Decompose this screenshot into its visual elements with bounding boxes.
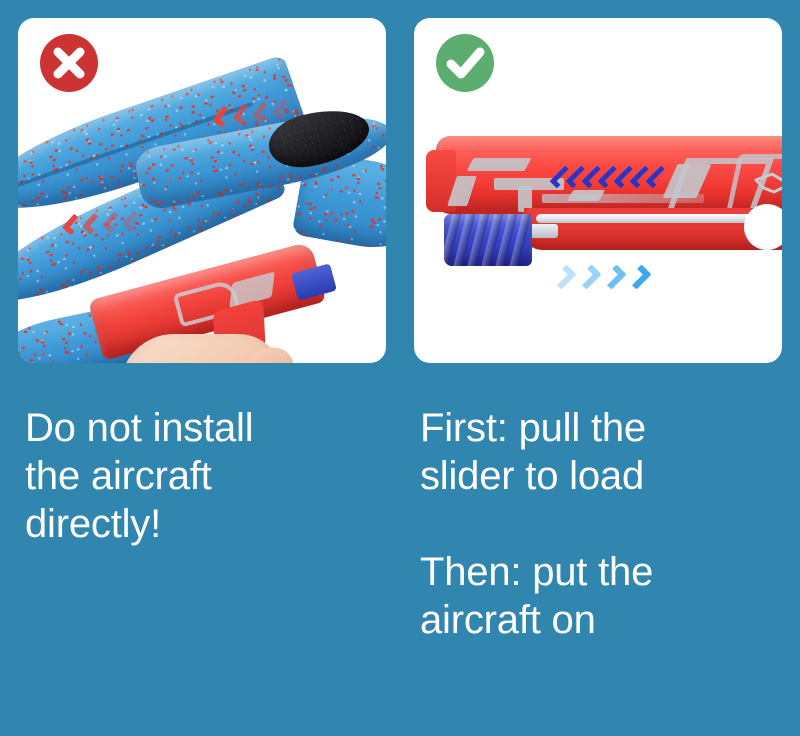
blue-motion-chevrons [554,262,649,292]
slider-grip[interactable] [444,214,532,266]
chevron-left-icon [570,162,584,192]
chevron-left-icon [272,95,292,123]
eagle-emblem-icon [752,166,782,202]
chevron-right-icon [604,262,624,292]
launcher-silver-strip [542,194,704,203]
chevron-left-icon [123,208,141,235]
caption-column-right: First: pull the slider to load Then: put… [420,382,800,644]
chevron-left-icon [252,98,272,126]
chevron-right-icon [554,262,574,292]
cross-badge [40,34,98,92]
caption-step-then: Then: put the aircraft on [420,548,800,644]
chevron-left-icon [634,162,648,192]
panel-correct [414,18,782,363]
check-icon [436,34,494,92]
chevron-left-icon [586,162,600,192]
caption-area: Do not install the aircraft directly! Fi… [0,382,800,736]
chevron-left-icon [602,162,616,192]
launcher-silver-graphic [467,158,532,171]
chevron-left-icon [83,210,101,237]
red-motion-chevrons-wing [63,208,141,238]
chevron-right-icon [579,262,599,292]
chevron-right-icon [629,262,649,292]
caption-do-not-install: Do not install the aircraft directly! [25,404,415,548]
chevron-left-icon [554,162,568,192]
chevron-left-icon [63,211,81,238]
chevron-left-icon [103,209,121,236]
check-badge [436,34,494,92]
launcher-trigger-hole [744,204,782,250]
caption-step-first: First: pull the slider to load [420,404,800,500]
chevron-left-icon [650,162,664,192]
launcher-top-rail [442,136,782,152]
chevron-left-icon [233,100,253,128]
cross-icon [40,34,98,92]
launcher-chevron-decals [554,162,664,192]
chevron-left-icon [618,162,632,192]
panel-incorrect [18,18,386,363]
chevron-left-icon [213,103,233,131]
caption-column-left: Do not install the aircraft directly! [25,382,415,548]
instruction-panels [0,0,800,382]
